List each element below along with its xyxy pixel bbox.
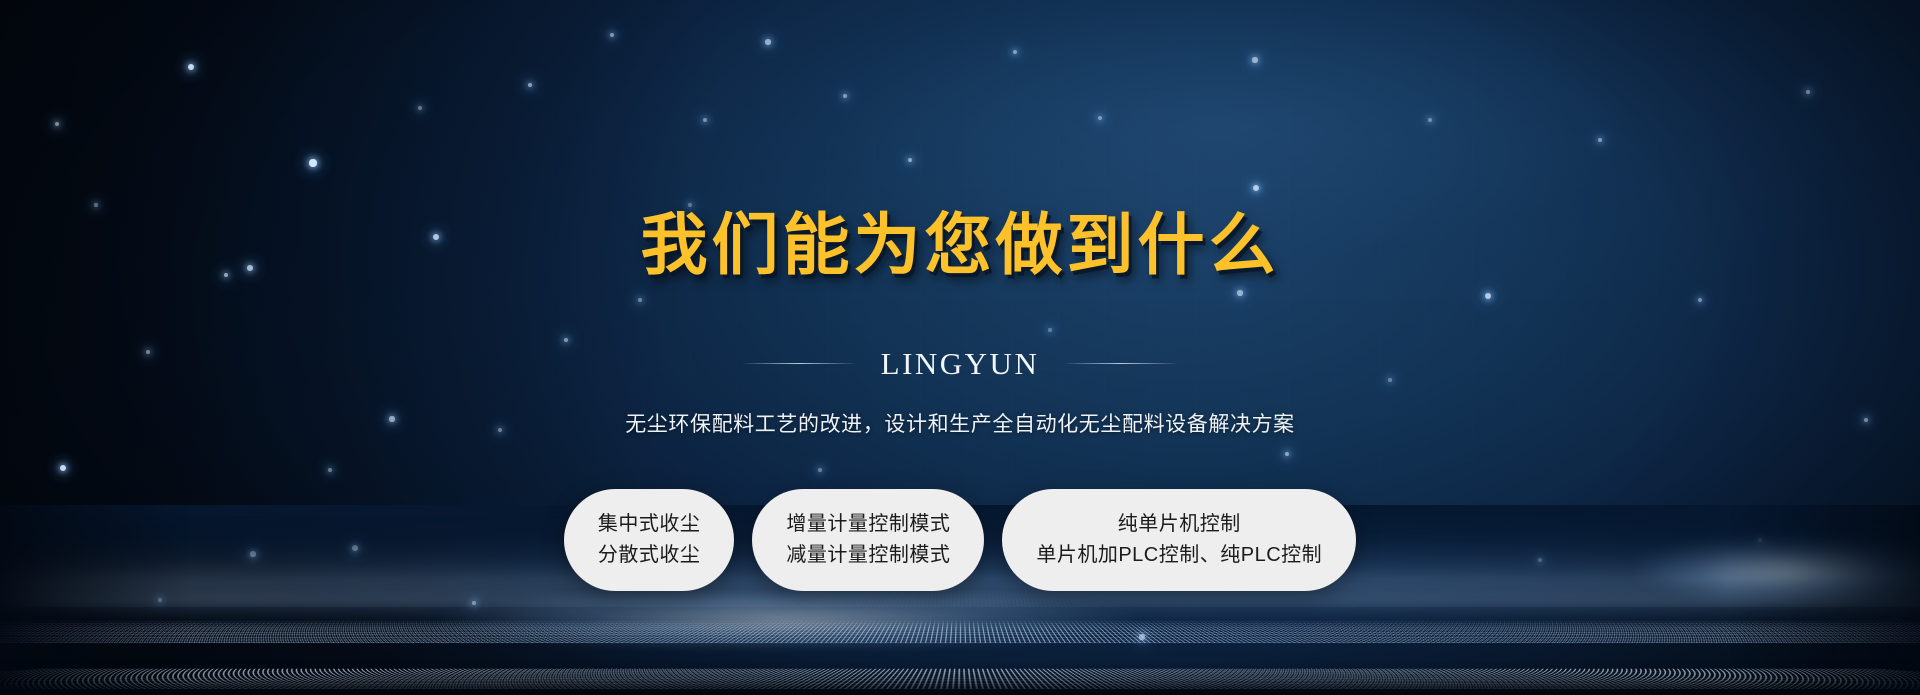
divider-line-left — [743, 363, 855, 364]
divider-line-right — [1065, 363, 1177, 364]
feature-card[interactable]: 增量计量控制模式 减量计量控制模式 — [752, 489, 984, 591]
brand-subtitle-row: LINGYUN — [743, 346, 1178, 382]
feature-card-list: 集中式收尘 分散式收尘 增量计量控制模式 减量计量控制模式 纯单片机控制 单片机… — [564, 489, 1356, 591]
hero-banner: 我们能为您做到什么 LINGYUN 无尘环保配料工艺的改进，设计和生产全自动化无… — [0, 0, 1920, 695]
feature-card-line-2: 单片机加PLC控制、纯PLC控制 — [1036, 545, 1322, 565]
feature-card-line-2: 减量计量控制模式 — [786, 545, 950, 565]
banner-content: 我们能为您做到什么 LINGYUN 无尘环保配料工艺的改进，设计和生产全自动化无… — [0, 0, 1920, 695]
banner-description: 无尘环保配料工艺的改进，设计和生产全自动化无尘配料设备解决方案 — [625, 408, 1295, 438]
feature-card-line-1: 纯单片机控制 — [1118, 514, 1241, 534]
brand-name: LINGYUN — [881, 346, 1040, 382]
feature-card-line-1: 增量计量控制模式 — [786, 514, 950, 534]
feature-card[interactable]: 集中式收尘 分散式收尘 — [564, 489, 735, 591]
feature-card[interactable]: 纯单片机控制 单片机加PLC控制、纯PLC控制 — [1002, 489, 1356, 591]
feature-card-line-1: 集中式收尘 — [598, 514, 701, 534]
feature-card-line-2: 分散式收尘 — [598, 545, 701, 565]
banner-headline: 我们能为您做到什么 — [641, 212, 1280, 279]
